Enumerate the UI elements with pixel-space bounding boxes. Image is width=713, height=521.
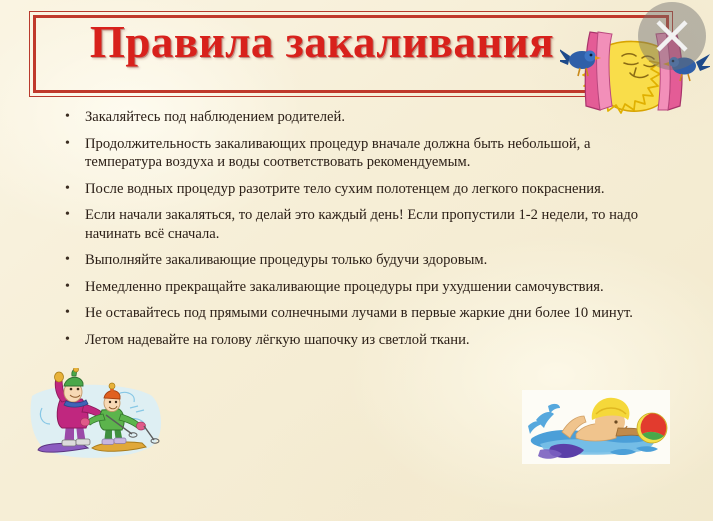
bullet-marker: • xyxy=(65,278,70,297)
skiers-illustration xyxy=(26,368,168,464)
list-item-text: Не оставайтесь под прямыми солнечными лу… xyxy=(85,304,662,323)
list-item: • Летом надевайте на голову лёгкую шапоч… xyxy=(62,331,662,350)
list-item-text: Летом надевайте на голову лёгкую шапочку… xyxy=(85,331,662,350)
list-item-text: После водных процедур разотрите тело сух… xyxy=(85,180,662,199)
bullet-marker: • xyxy=(65,251,70,270)
list-item-text: Продолжительность закаливающих процедур … xyxy=(85,135,662,172)
bullet-marker: • xyxy=(65,108,70,127)
list-item: • Если начали закаляться, то делай это к… xyxy=(62,206,662,243)
list-item: • Продолжительность закаливающих процеду… xyxy=(62,135,662,172)
list-item: • Не оставайтесь под прямыми солнечными … xyxy=(62,304,662,323)
close-button[interactable] xyxy=(638,2,706,70)
list-item-text: Выполняйте закаливающие процедуры только… xyxy=(85,251,662,270)
bullet-marker: • xyxy=(65,304,70,323)
swimmer-illustration xyxy=(518,388,674,468)
list-item: • Немедленно прекращайте закаливающие пр… xyxy=(62,278,662,297)
bullet-marker: • xyxy=(65,135,70,154)
bullet-marker: • xyxy=(65,180,70,199)
slide-canvas: Правила закаливания xyxy=(0,0,713,521)
list-item: • После водных процедур разотрите тело с… xyxy=(62,180,662,199)
list-item: • Выполняйте закаливающие процедуры толь… xyxy=(62,251,662,270)
page-title: Правила закаливания xyxy=(0,16,644,68)
list-item-text: Если начали закаляться, то делай это каж… xyxy=(85,206,662,243)
bullet-marker: • xyxy=(65,206,70,225)
close-icon xyxy=(638,2,706,70)
list-item-text: Немедленно прекращайте закаливающие проц… xyxy=(85,278,662,297)
bullet-marker: • xyxy=(65,331,70,350)
rules-list: • Закаляйтесь под наблюдением родителей.… xyxy=(62,108,662,357)
